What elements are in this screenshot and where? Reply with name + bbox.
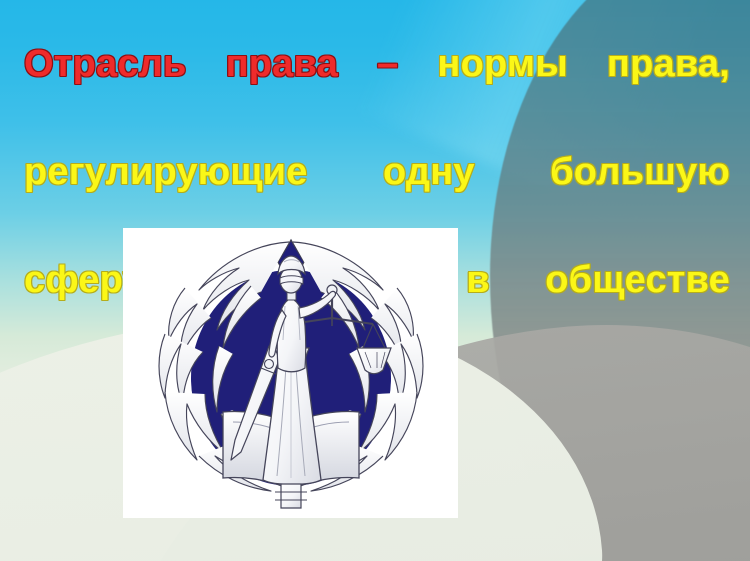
title-word-society: обществе — [545, 259, 730, 301]
justice-emblem-svg — [123, 228, 458, 518]
title-word-large: большую — [550, 151, 730, 193]
title-term-branch-of-law: Отрасль права — [24, 43, 338, 85]
title-dash: – — [377, 43, 398, 85]
presentation-slide: Отрасль права – нормы права, регулирующи… — [0, 0, 750, 561]
justice-emblem-image — [123, 228, 458, 518]
title-word-regulating: регулирующие — [24, 151, 308, 193]
title-word-in: в — [466, 259, 490, 301]
title-word-norms-of-law: нормы права, — [437, 43, 730, 85]
title-line-1: Отрасль права – нормы права, — [24, 38, 730, 146]
title-word-one: одну — [383, 151, 475, 193]
